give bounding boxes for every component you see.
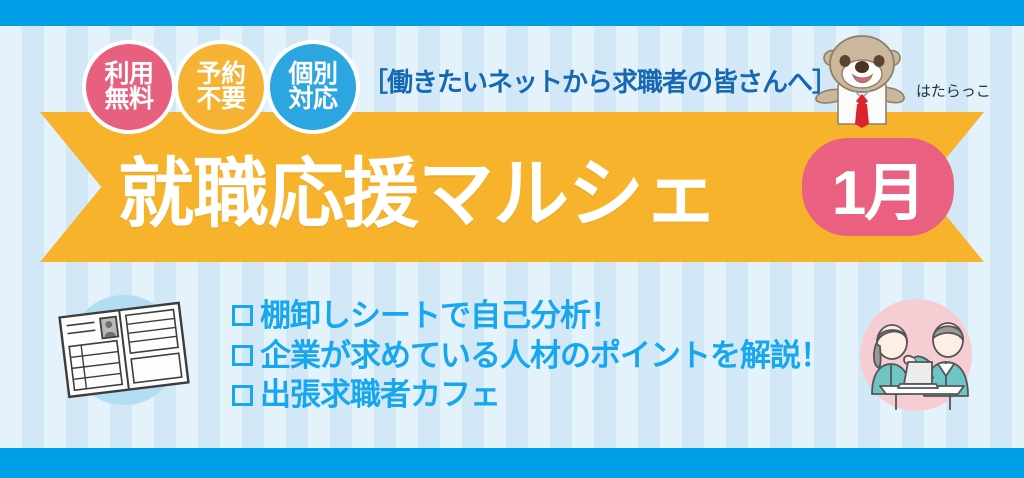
- resume-document-icon: [48, 288, 198, 412]
- badge-free: 利用 無料: [86, 44, 172, 130]
- page-title: 就職応援マルシェ: [118, 132, 718, 242]
- list-item: 企業が求めている人材のポイントを解説！: [232, 336, 830, 376]
- badge-no-booking: 予約 不要: [178, 44, 264, 130]
- badge-no-booking-line1: 予約: [196, 62, 245, 88]
- badge-personal: 個別 対応: [270, 44, 356, 130]
- career-consultation-icon: [846, 292, 986, 418]
- lead-text: ［働きたいネットから求職者の皆さんへ］: [362, 62, 837, 99]
- checkbox-square-icon: [232, 305, 253, 326]
- bottom-accent-bar: [0, 448, 1024, 478]
- badge-personal-line2: 対応: [288, 87, 337, 113]
- list-item: 出張求職者カフェ: [232, 375, 830, 415]
- badge-personal-line1: 個別: [288, 62, 337, 88]
- mascot-name-label: はたらっこ: [916, 80, 991, 101]
- checkbox-square-icon: [232, 345, 253, 366]
- list-item-label: 企業が求めている人材のポイントを解説！: [260, 336, 830, 376]
- feature-badge-group: 利用 無料 予約 不要 個別 対応: [86, 44, 356, 130]
- list-item: 棚卸しシートで自己分析！: [232, 296, 830, 336]
- feature-list: 棚卸しシートで自己分析！ 企業が求めている人材のポイントを解説！ 出張求職者カフ…: [232, 296, 830, 415]
- list-item-label: 出張求職者カフェ: [260, 375, 500, 415]
- list-item-label: 棚卸しシートで自己分析！: [260, 296, 620, 336]
- month-badge: 1月: [802, 138, 954, 236]
- title-ribbon: 就職応援マルシェ 1月: [40, 112, 984, 262]
- badge-no-booking-line2: 不要: [196, 87, 245, 113]
- badge-free-line2: 無料: [104, 87, 153, 113]
- top-accent-bar: [0, 0, 1024, 26]
- badge-free-line1: 利用: [104, 62, 153, 88]
- checkbox-square-icon: [232, 385, 253, 406]
- otter-mascot-icon: [812, 28, 912, 128]
- promo-banner: 利用 無料 予約 不要 個別 対応 ［働きたいネットから求職者の皆さんへ］: [0, 0, 1024, 478]
